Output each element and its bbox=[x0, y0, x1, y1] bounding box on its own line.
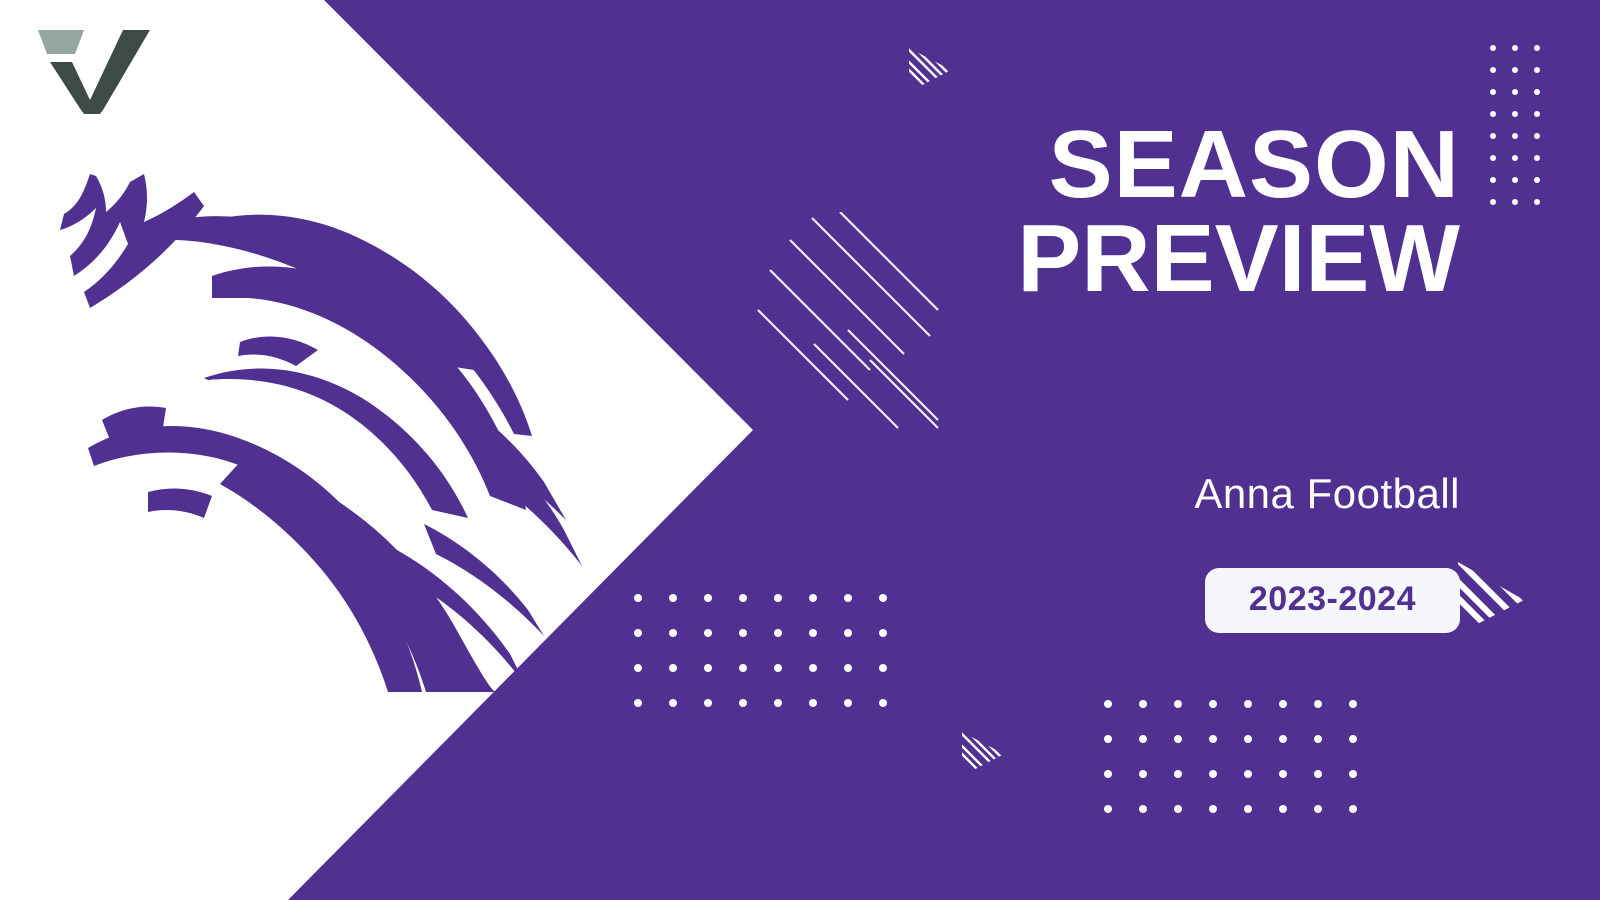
striped-triangle-icon bbox=[905, 44, 955, 96]
page-title: SEASON PREVIEW bbox=[700, 118, 1460, 306]
title-line-preview: PREVIEW bbox=[700, 212, 1460, 306]
title-line-season: SEASON bbox=[700, 118, 1460, 212]
team-subtitle: Anna Football bbox=[700, 470, 1460, 518]
poster-content: SEASON PREVIEW Anna Football 2023-2024 bbox=[700, 0, 1460, 900]
dot-grid-icon bbox=[1104, 700, 1360, 824]
diagonal-lines-icon bbox=[752, 212, 942, 462]
season-preview-poster: SEASON PREVIEW Anna Football 2023-2024 bbox=[0, 0, 1600, 900]
checkmark-v-logo-icon bbox=[28, 18, 158, 114]
coyote-wolf-head-icon bbox=[44, 152, 584, 692]
striped-triangle-icon bbox=[958, 728, 1008, 780]
dot-grid-icon bbox=[1489, 44, 1549, 212]
dot-grid-icon bbox=[634, 594, 890, 718]
season-badge[interactable]: 2023-2024 bbox=[1205, 568, 1460, 633]
striped-triangle-icon bbox=[1452, 558, 1530, 638]
season-badge-container: 2023-2024 bbox=[700, 568, 1460, 633]
